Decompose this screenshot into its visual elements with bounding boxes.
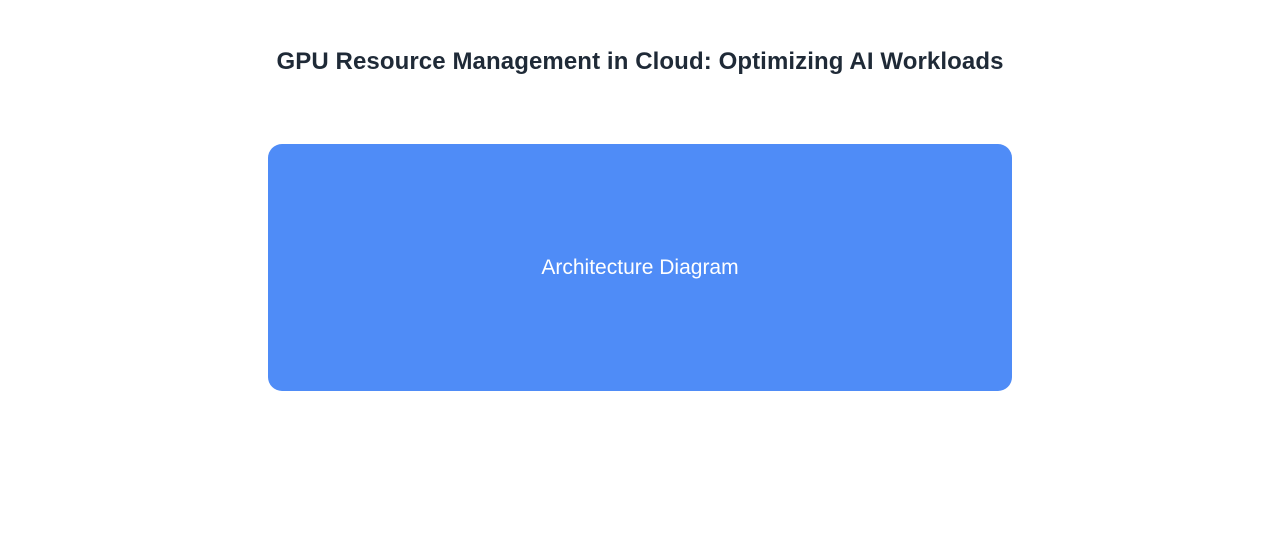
architecture-diagram-label: Architecture Diagram (541, 255, 738, 281)
slide-canvas: GPU Resource Management in Cloud: Optimi… (0, 0, 1280, 536)
architecture-diagram-placeholder[interactable]: Architecture Diagram (268, 144, 1012, 391)
page-title: GPU Resource Management in Cloud: Optimi… (0, 45, 1280, 79)
